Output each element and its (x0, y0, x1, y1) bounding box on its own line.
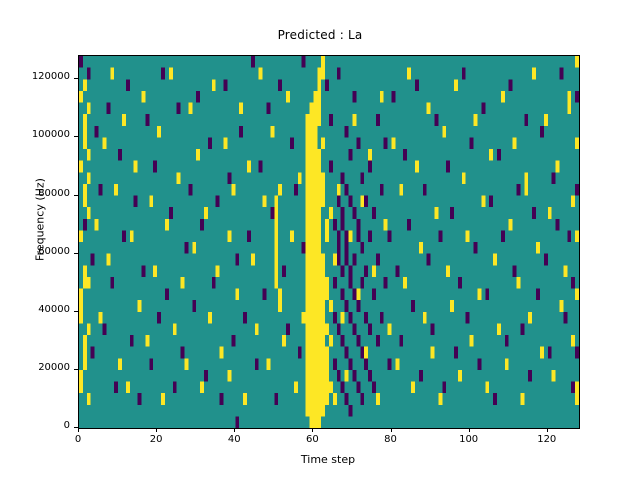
x-tick-label: 80 (361, 434, 421, 445)
x-tick-mark (78, 428, 79, 432)
page-title: Predicted : La (0, 28, 640, 42)
y-tick-mark (74, 427, 78, 428)
x-tick-label: 0 (48, 434, 108, 445)
x-tick-mark (391, 428, 392, 432)
y-tick-mark (74, 195, 78, 196)
y-tick-label: 0 (0, 420, 70, 431)
y-tick-mark (74, 78, 78, 79)
y-tick-mark (74, 311, 78, 312)
x-tick-label: 40 (204, 434, 264, 445)
y-tick-label: 60000 (0, 246, 70, 257)
x-tick-mark (469, 428, 470, 432)
y-tick-mark (74, 253, 78, 254)
x-tick-label: 100 (439, 434, 499, 445)
y-tick-label: 40000 (0, 304, 70, 315)
x-tick-mark (234, 428, 235, 432)
heatmap-axes (78, 55, 580, 429)
x-tick-label: 120 (517, 434, 577, 445)
y-tick-label: 100000 (0, 129, 70, 140)
x-tick-mark (312, 428, 313, 432)
y-tick-mark (74, 136, 78, 137)
x-tick-mark (156, 428, 157, 432)
y-tick-label: 20000 (0, 362, 70, 373)
y-tick-label: 80000 (0, 188, 70, 199)
matplotlib-figure: Predicted : La Time step Frequency (Hz) … (0, 0, 640, 480)
x-tick-mark (547, 428, 548, 432)
y-tick-mark (74, 369, 78, 370)
x-tick-label: 60 (282, 434, 342, 445)
heatmap-image (79, 56, 579, 428)
x-axis-label: Time step (78, 453, 578, 466)
y-tick-label: 120000 (0, 71, 70, 82)
x-tick-label: 20 (126, 434, 186, 445)
